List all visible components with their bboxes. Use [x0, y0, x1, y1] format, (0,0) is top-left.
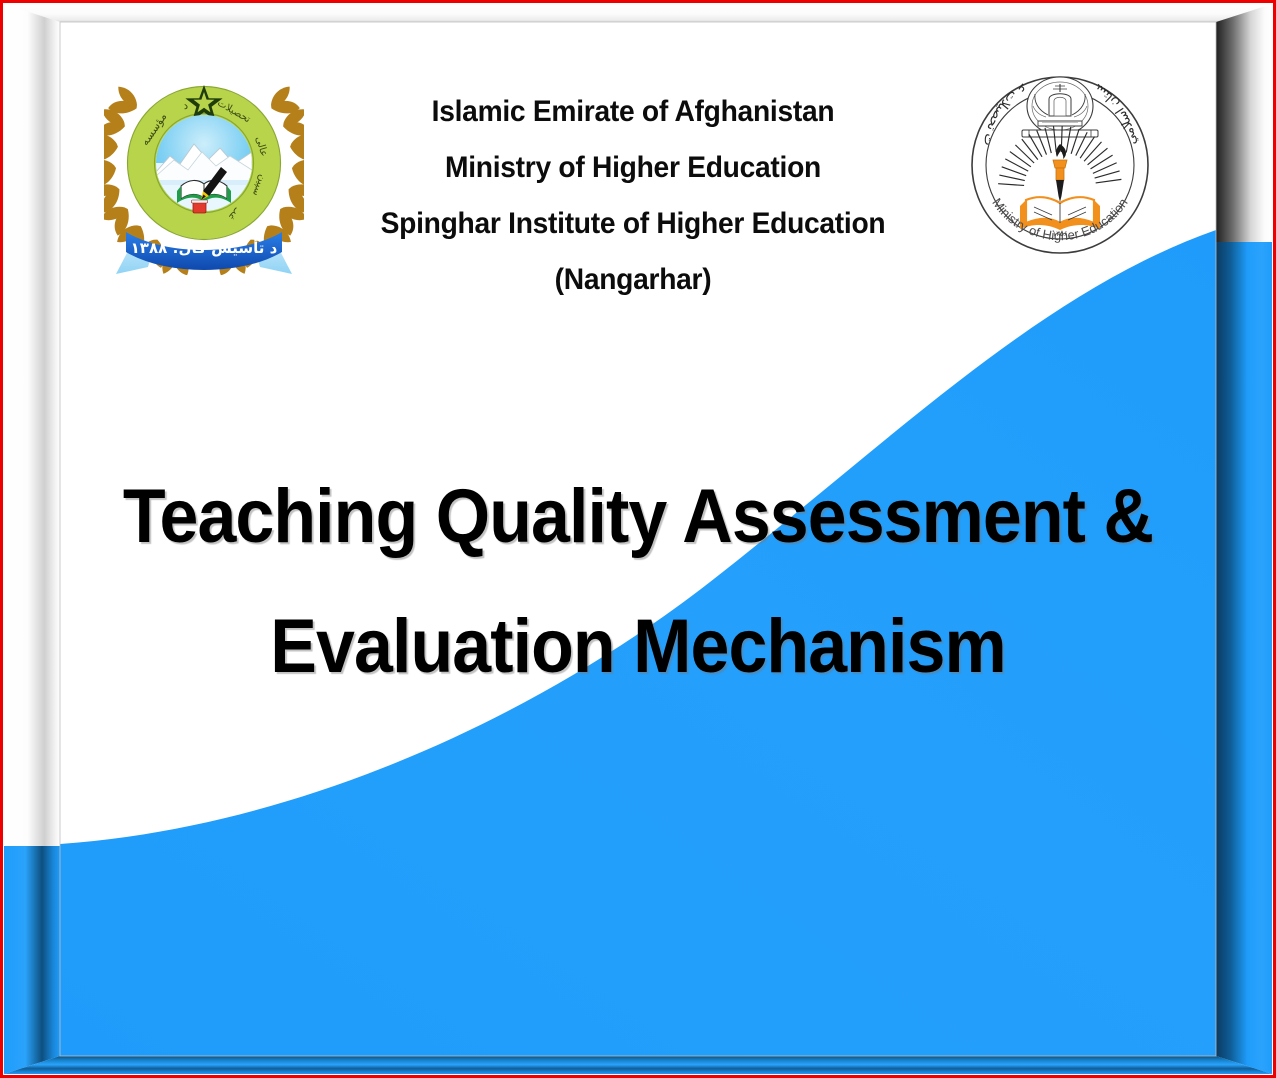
ministry-of-higher-education-logo: ۱۳۵۶ Ministry of Higher Education د افغا… [960, 60, 1160, 265]
slide-page: مؤسسه د تحصیلات عالی سپین غر [4, 4, 1272, 1074]
header-line-4: (Nangarhar) [328, 252, 939, 308]
slide-header: مؤسسه د تحصیلات عالی سپین غر [60, 22, 1216, 292]
header-line-2: Ministry of Higher Education [328, 140, 939, 196]
slide-canvas: مؤسسه د تحصیلات عالی سپین غر [60, 22, 1216, 1056]
frame-bottom-rail [4, 1056, 1272, 1074]
title-line-2: Evaluation Mechanism [106, 582, 1170, 712]
frame-left-rail-upper [4, 4, 60, 1074]
afghan-national-emblem-icon [1027, 77, 1093, 135]
frame-right-rail-upper [1216, 4, 1272, 1074]
header-text-block: Islamic Emirate of Afghanistan Ministry … [308, 84, 958, 308]
frame-left-rail-lower [4, 4, 60, 1074]
frame-right-rail-lower [1216, 4, 1272, 1074]
header-line-3: Spinghar Institute of Higher Education [328, 196, 939, 252]
crest-ribbon-text: د تأسیس کال: ۱۳۸۸ [131, 238, 278, 257]
frame-top-rail [4, 4, 1272, 22]
title-line-1: Teaching Quality Assessment & [106, 452, 1170, 582]
header-line-1: Islamic Emirate of Afghanistan [328, 84, 939, 140]
crest-inkwell-icon [192, 200, 208, 213]
crest-ribbon-banner: د تأسیس کال: ۱۳۸۸ [116, 232, 292, 274]
title-slide: مؤسسه د تحصیلات عالی سپین غر [0, 0, 1276, 1078]
spinghar-institute-logo: مؤسسه د تحصیلات عالی سپین غر [104, 60, 304, 290]
slide-title: Teaching Quality Assessment & Evaluation… [60, 452, 1216, 712]
